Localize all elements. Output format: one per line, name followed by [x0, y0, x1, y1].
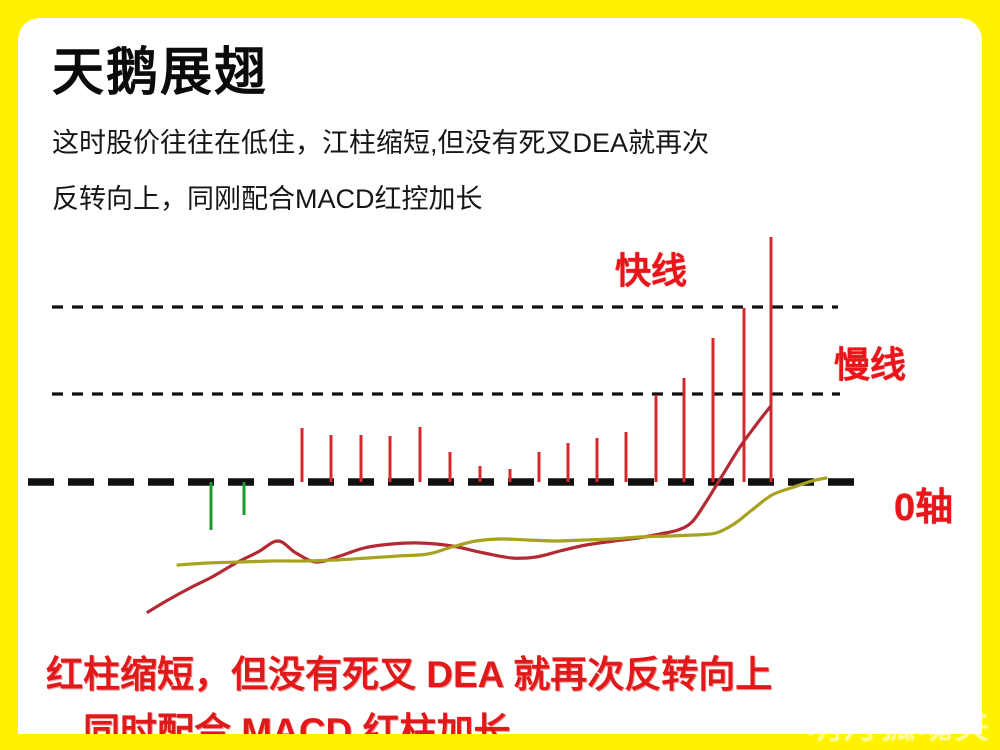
subtitle-line-1: 这时股价往往在低住，江柱缩短,但没有死叉DEA就再次 [52, 121, 709, 160]
macd-signal-lines [148, 407, 826, 612]
slow-line-label: 慢线 [834, 336, 906, 388]
reference-lines [52, 307, 840, 394]
subtitle-line-2: 反转向上，同刚配合MACD红控加长 [52, 177, 483, 216]
caption-line-1: 红柱缩短，但没有死叉 DEA 就再次反转向上 [46, 644, 772, 698]
page-title: 天鹅展翅 [52, 30, 268, 105]
watermark: 明月孤魂夹 [807, 699, 992, 748]
fast-line-label: 快线 [615, 242, 687, 294]
zero-axis-label: 0轴 [894, 476, 953, 531]
caption-line-2: ，同时配合 MACD 红柱加长。 [46, 701, 548, 734]
content-card: 天鹅展翅 这时股价往往在低住，江柱缩短,但没有死叉DEA就再次 反转向上，同刚配… [18, 18, 982, 734]
